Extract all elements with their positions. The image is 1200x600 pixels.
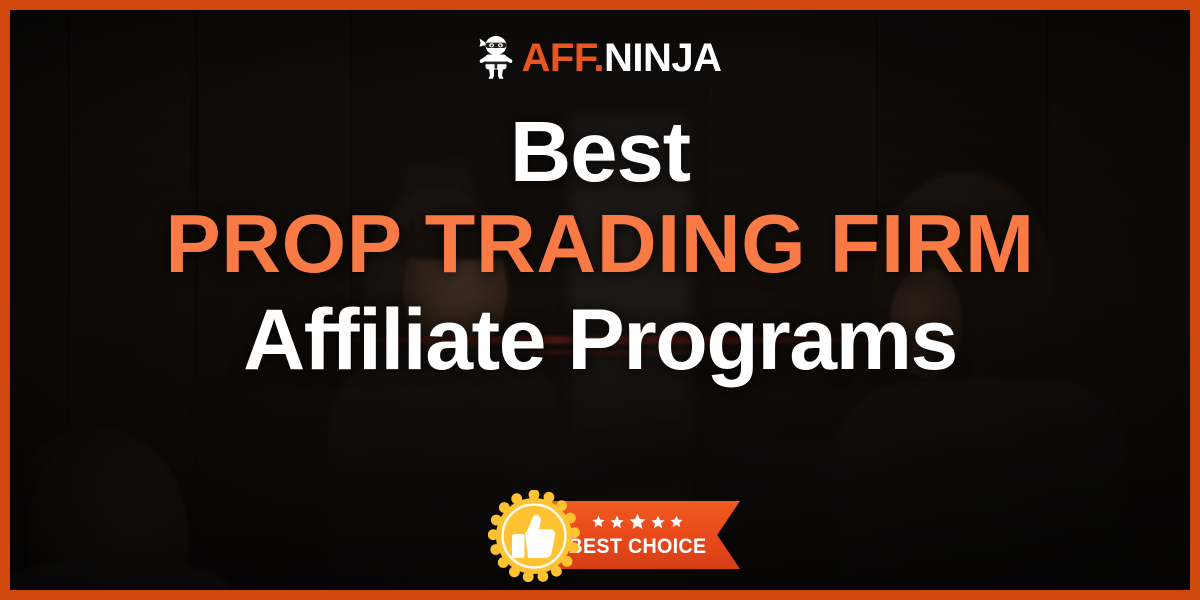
star-icon (670, 515, 683, 532)
star-icon (651, 515, 665, 533)
badge-seal (488, 490, 580, 582)
headline-block: Best PROP TRADING FIRM Affiliate Program… (10, 110, 1190, 388)
badge-label: BEST CHOICE (568, 536, 706, 557)
site-logo[interactable]: AFF.NINJA (479, 32, 722, 84)
headline-line-1: Best (10, 110, 1190, 195)
headline-line-3: Affiliate Programs (10, 293, 1190, 388)
star-icon (610, 515, 624, 533)
promo-banner: AFF.NINJA Best PROP TRADING FIRM Affilia… (0, 0, 1200, 600)
star-icon (629, 513, 646, 534)
headline-line-2: PROP TRADING FIRM (10, 195, 1190, 293)
star-rating (592, 513, 683, 534)
logo-wordmark: AFF.NINJA (522, 38, 722, 78)
logo-ninja-text: NINJA (604, 36, 722, 80)
logo-aff-text: AFF. (522, 36, 604, 80)
star-icon (592, 515, 605, 532)
ninja-mascot-icon (479, 33, 513, 84)
best-choice-badge: BEST CHOICE (488, 490, 740, 582)
